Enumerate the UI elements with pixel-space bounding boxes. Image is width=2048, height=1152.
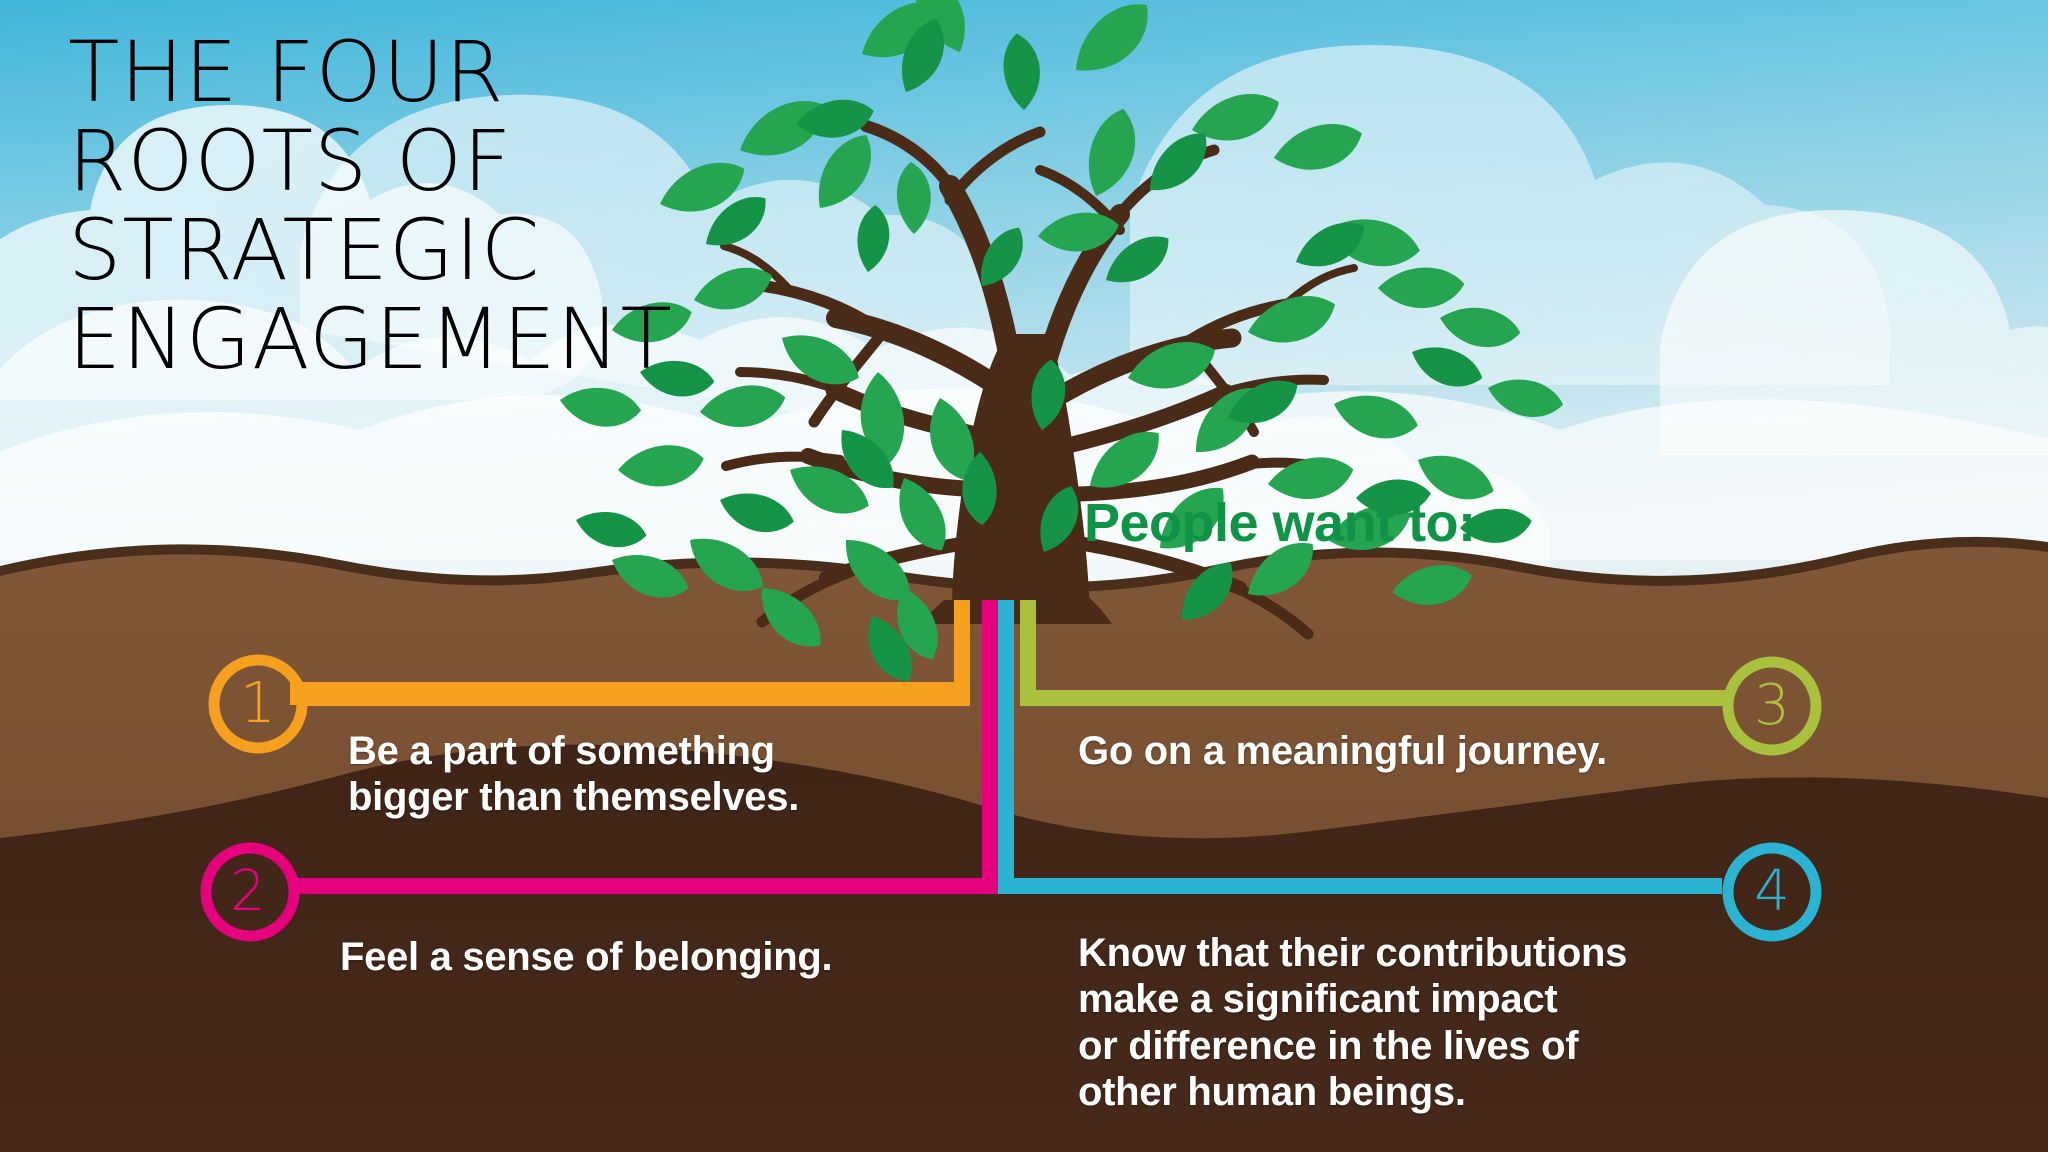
page-title: THE FOUR ROOTS OF STRATEGIC ENGAGEMENT [68, 28, 788, 384]
root-text-2: Feel a sense of belonging. [340, 934, 960, 980]
root-text-1: Be a part of something bigger than thems… [348, 728, 968, 821]
subtitle-people-want-to: People want to: [1084, 492, 1476, 554]
infographic-canvas: THE FOUR ROOTS OF STRATEGIC ENGAGEMENT P… [0, 0, 2048, 1152]
root-circle-1 [214, 660, 302, 748]
root-circle-4 [1728, 848, 1816, 936]
root-line-3 [1028, 600, 1726, 698]
root-line-1 [298, 600, 962, 705]
root-text-3: Go on a meaningful journey. [1078, 728, 1838, 774]
root-circle-2 [206, 848, 294, 936]
root-text-4: Know that their contributions make a sig… [1078, 930, 1718, 1116]
